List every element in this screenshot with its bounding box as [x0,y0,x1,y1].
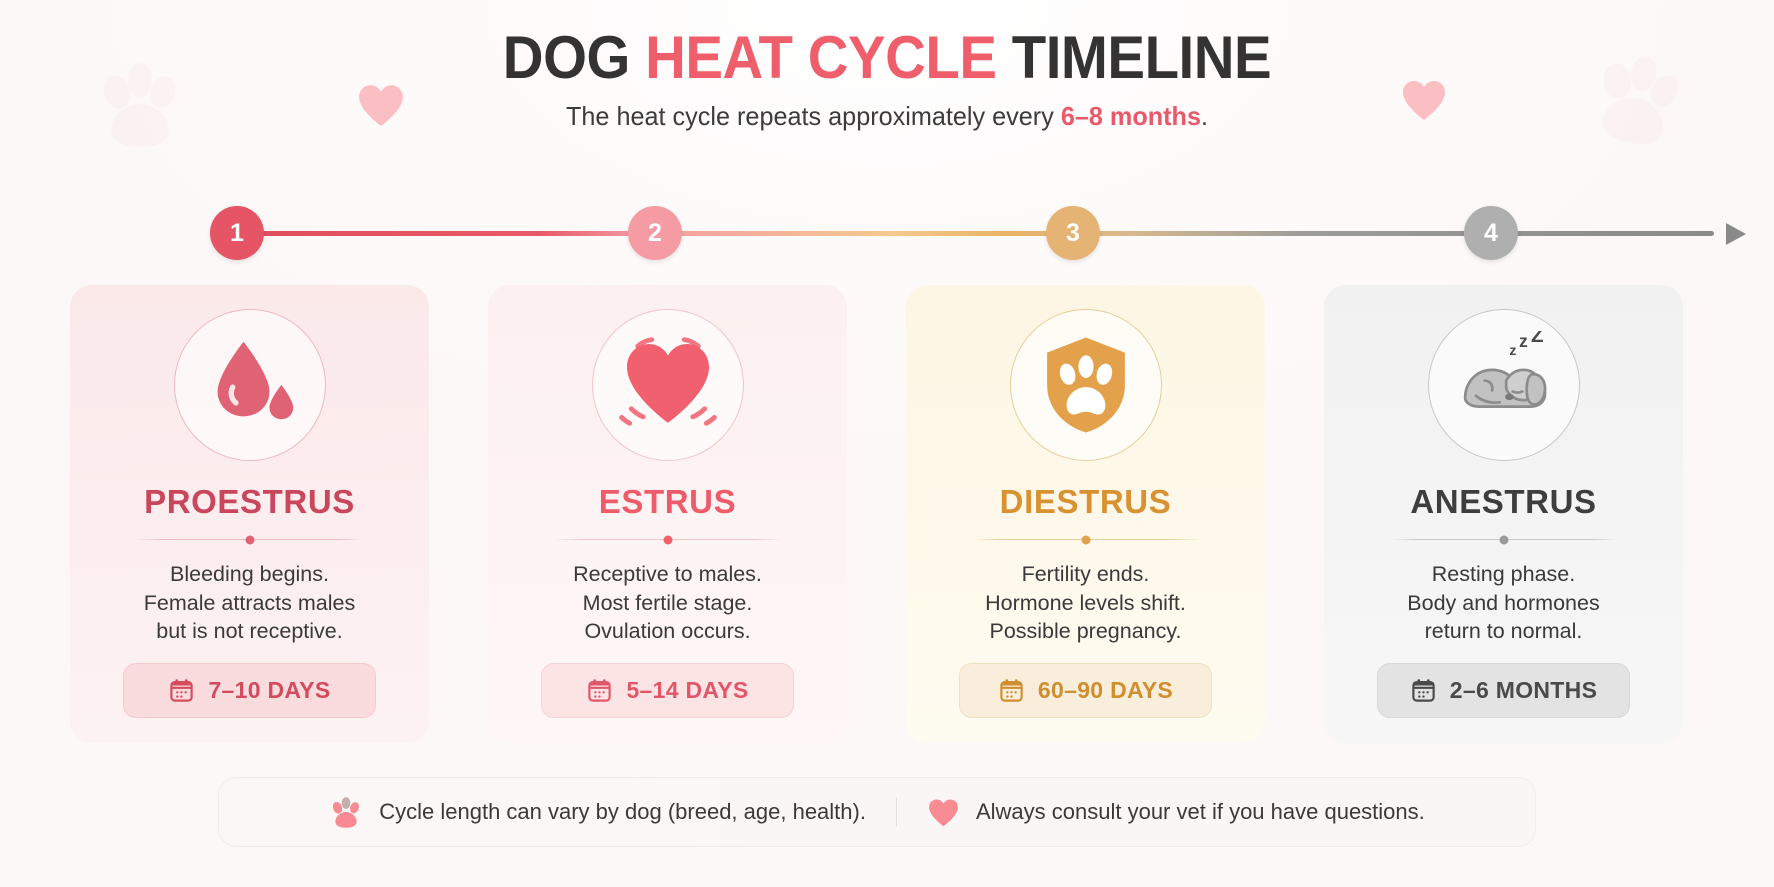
footer-note-left-text: Cycle length can vary by dog (breed, age… [379,799,866,825]
svg-text:z: z [1519,331,1528,351]
divider-dot [1081,535,1090,544]
stage-duration-badge[interactable]: 7–10 DAYS [123,663,376,718]
calendar-icon [998,677,1025,704]
stage-description: Fertility ends. Hormone levels shift. Po… [985,560,1186,646]
shield-paw-icon [1032,331,1140,439]
timeline-node-1[interactable]: 1 [210,206,264,260]
stage-duration-badge[interactable]: 60–90 DAYS [959,663,1212,718]
paw-icon [329,795,363,829]
subtitle-highlight: 6–8 months [1061,101,1201,131]
stage-name: ANESTRUS [1410,483,1596,521]
stage-icon-circle: z z Z [1428,309,1580,461]
divider-dot [245,535,254,544]
timeline-node-2[interactable]: 2 [628,206,682,260]
stage-description: Resting phase. Body and hormones return … [1407,560,1599,646]
stage-divider [972,535,1200,544]
calendar-icon [1410,677,1437,704]
stage-name: ESTRUS [599,483,736,521]
timeline-node-3[interactable]: 3 [1046,206,1100,260]
timeline-node-number: 3 [1066,219,1080,248]
stage-card-estrus[interactable]: ESTRUSReceptive to males. Most fertile s… [488,285,847,743]
timeline: 1234 [0,206,1774,266]
stage-duration-badge[interactable]: 2–6 MONTHS [1377,663,1630,718]
stage-name: PROESTRUS [144,483,355,521]
svg-text:Z: Z [1531,331,1544,347]
footer-note-right: Always consult your vet if you have ques… [927,797,1425,828]
divider-dot [1499,535,1508,544]
stage-description: Bleeding begins. Female attracts males b… [144,560,355,646]
stage-duration-text: 5–14 DAYS [626,677,748,704]
header: DOG HEAT CYCLE TIMELINE The heat cycle r… [0,26,1774,132]
stage-divider [1390,535,1618,544]
arrow-right-icon [1726,223,1746,245]
stage-divider [136,535,364,544]
calendar-icon [586,677,613,704]
page-subtitle: The heat cycle repeats approximately eve… [27,101,1748,132]
subtitle-text-before: The heat cycle repeats approximately eve… [566,101,1061,131]
stage-card-proestrus[interactable]: PROESTRUSBleeding begins. Female attract… [70,285,429,743]
subtitle-text-after: . [1201,101,1208,131]
timeline-node-4[interactable]: 4 [1464,206,1518,260]
stage-divider [554,535,782,544]
svg-text:z: z [1509,342,1516,358]
page-title: DOG HEAT CYCLE TIMELINE [53,26,1721,89]
timeline-node-number: 2 [648,219,662,248]
stage-card-diestrus[interactable]: DIESTRUSFertility ends. Hormone levels s… [906,285,1265,743]
footer-note-bar: Cycle length can vary by dog (breed, age… [218,777,1536,847]
title-segment-dog: DOG [503,24,645,91]
footer-note-right-text: Always consult your vet if you have ques… [976,799,1425,825]
stage-icon-circle [592,309,744,461]
stage-duration-text: 7–10 DAYS [208,677,330,704]
footer-note-left: Cycle length can vary by dog (breed, age… [329,795,866,829]
stage-duration-text: 2–6 MONTHS [1450,677,1597,704]
title-segment-heat-cycle: HEAT CYCLE [645,24,996,91]
stage-duration-badge[interactable]: 5–14 DAYS [541,663,794,718]
stage-card-anestrus[interactable]: z z Z ANESTRUSResting phase. Body and ho… [1324,285,1683,743]
stage-description: Receptive to males. Most fertile stage. … [573,560,762,646]
stage-duration-text: 60–90 DAYS [1038,677,1173,704]
calendar-icon [168,677,195,704]
heart-sparkle-icon [614,331,722,439]
footer-divider [896,797,897,827]
title-segment-timeline: TIMELINE [997,24,1272,91]
infographic-canvas: DOG HEAT CYCLE TIMELINE The heat cycle r… [0,0,1774,887]
blood-drop-icon [196,331,304,439]
timeline-node-number: 4 [1484,219,1498,248]
sleeping-dog-icon: z z Z [1450,331,1558,439]
stage-name: DIESTRUS [1000,483,1172,521]
stage-icon-circle [1010,309,1162,461]
divider-dot [663,535,672,544]
heart-icon [927,797,960,828]
stage-card-list: PROESTRUSBleeding begins. Female attract… [0,285,1774,745]
stage-icon-circle [174,309,326,461]
timeline-node-number: 1 [230,219,244,248]
